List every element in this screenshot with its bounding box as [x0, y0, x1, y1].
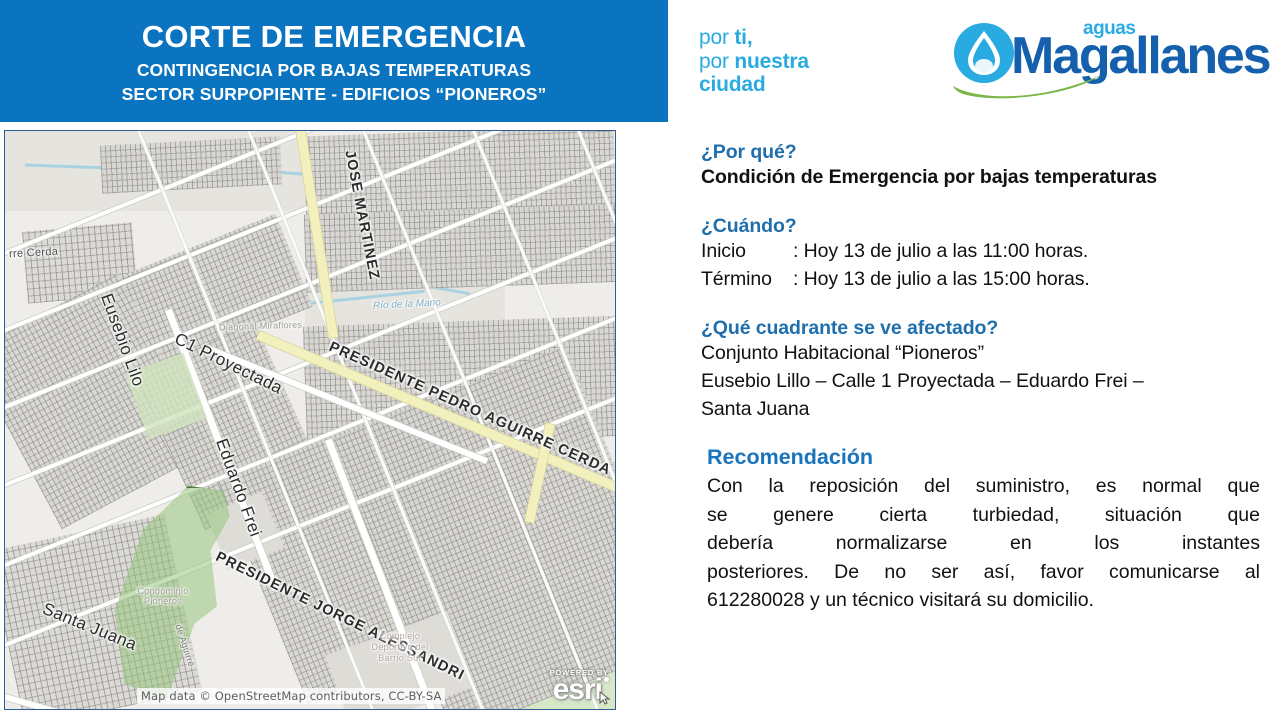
- map-attribution: Map data © OpenStreetMap contributors, C…: [137, 688, 445, 704]
- tagline-3-bold: ciudad: [699, 73, 765, 96]
- recommendation-heading: Recomendación: [707, 445, 1261, 470]
- why-body: Condición de Emergencia por bajas temper…: [701, 164, 1261, 192]
- cursor-arrow-icon: [599, 691, 611, 705]
- tagline-2-thin: por: [699, 50, 734, 73]
- map-label-torre-cerda: rre Cerda: [9, 246, 59, 261]
- tagline-line-1: por ti,: [699, 26, 809, 50]
- section-why: ¿Por qué? Condición de Emergencia por ba…: [701, 140, 1261, 192]
- block-ne-1: [304, 203, 616, 292]
- section-recommendation: Recomendación Con la reposición del sumi…: [701, 445, 1261, 614]
- when-start-label: Inicio: [701, 238, 793, 266]
- when-end-value: : Hoy 13 de julio a las 15:00 horas.: [793, 268, 1090, 290]
- aguas-magallanes-logo: aguas Magallanes: [953, 8, 1268, 103]
- tagline-1-thin: por: [699, 26, 734, 49]
- recommendation-body: Con la reposición del suministro, es nor…: [707, 472, 1260, 614]
- esri-dot-icon: [604, 677, 609, 682]
- banner-subtitle-line1: CONTINGENCIA POR BAJAS TEMPERATURAS: [137, 58, 531, 82]
- esri-wordmark: esri: [553, 673, 602, 706]
- left-column: CORTE DE EMERGENCIA CONTINGENCIA POR BAJ…: [0, 0, 668, 720]
- brand-tagline: por ti, por nuestra ciudad: [699, 26, 809, 97]
- header-banner: CORTE DE EMERGENCIA CONTINGENCIA POR BAJ…: [0, 0, 668, 122]
- section-when: ¿Cuándo? Inicio: Hoy 13 de julio a las 1…: [701, 214, 1261, 294]
- map-label-condominio-pioneros: Condominio Pioneros: [123, 586, 203, 607]
- when-end-label: Término: [701, 266, 793, 294]
- quadrant-line-3: Santa Juana: [701, 396, 1261, 424]
- right-column: por ti, por nuestra ciudad aguas Magalla…: [668, 0, 1280, 720]
- why-heading: ¿Por qué?: [701, 140, 1261, 164]
- banner-subtitle-line2: SECTOR SURPOPIENTE - EDIFICIOS “PIONEROS…: [122, 82, 547, 106]
- quadrant-heading: ¿Qué cuadrante se ve afectado?: [701, 316, 1261, 340]
- recommendation-line-3: debería normalizarse en los instantes: [707, 529, 1260, 557]
- map-frame[interactable]: JOSE MARTINEZ C1 Proyectada Eusebio Lilo…: [4, 130, 616, 710]
- green-swoosh-icon: [951, 70, 1111, 100]
- map-label-complejo-deportivo: Complejo Deportivo del Barrio Sur: [365, 631, 435, 663]
- quadrant-line-2: Eusebio Lillo – Calle 1 Proyectada – Edu…: [701, 368, 1261, 396]
- recommendation-line-2: se genere cierta turbiedad, situación qu…: [707, 501, 1260, 529]
- when-start-value: : Hoy 13 de julio a las 11:00 horas.: [793, 240, 1088, 262]
- slide-root: CORTE DE EMERGENCIA CONTINGENCIA POR BAJ…: [0, 0, 1280, 720]
- info-content: ¿Por qué? Condición de Emergencia por ba…: [701, 140, 1261, 615]
- when-heading: ¿Cuándo?: [701, 214, 1261, 238]
- recommendation-line-4: posteriores. De no ser así, favor comuni…: [707, 558, 1260, 586]
- section-quadrant: ¿Qué cuadrante se ve afectado? Conjunto …: [701, 316, 1261, 423]
- tagline-line-3: ciudad: [699, 73, 809, 97]
- recommendation-line-1: Con la reposición del suministro, es nor…: [707, 472, 1260, 500]
- tagline-1-bold: ti,: [734, 26, 752, 49]
- tagline-line-2: por nuestra: [699, 50, 809, 74]
- quadrant-line-1: Conjunto Habitacional “Pioneros”: [701, 340, 1261, 368]
- when-start-row: Inicio: Hoy 13 de julio a las 11:00 hora…: [701, 238, 1261, 266]
- tagline-2-bold: nuestra: [734, 50, 808, 73]
- banner-title: CORTE DE EMERGENCIA: [142, 20, 527, 55]
- map-canvas[interactable]: JOSE MARTINEZ C1 Proyectada Eusebio Lilo…: [5, 131, 615, 709]
- brand-row: por ti, por nuestra ciudad aguas Magalla…: [668, 0, 1280, 122]
- when-end-row: Término: Hoy 13 de julio a las 15:00 hor…: [701, 266, 1261, 294]
- recommendation-line-5: 612280028 y un técnico visitará su domic…: [707, 586, 1260, 614]
